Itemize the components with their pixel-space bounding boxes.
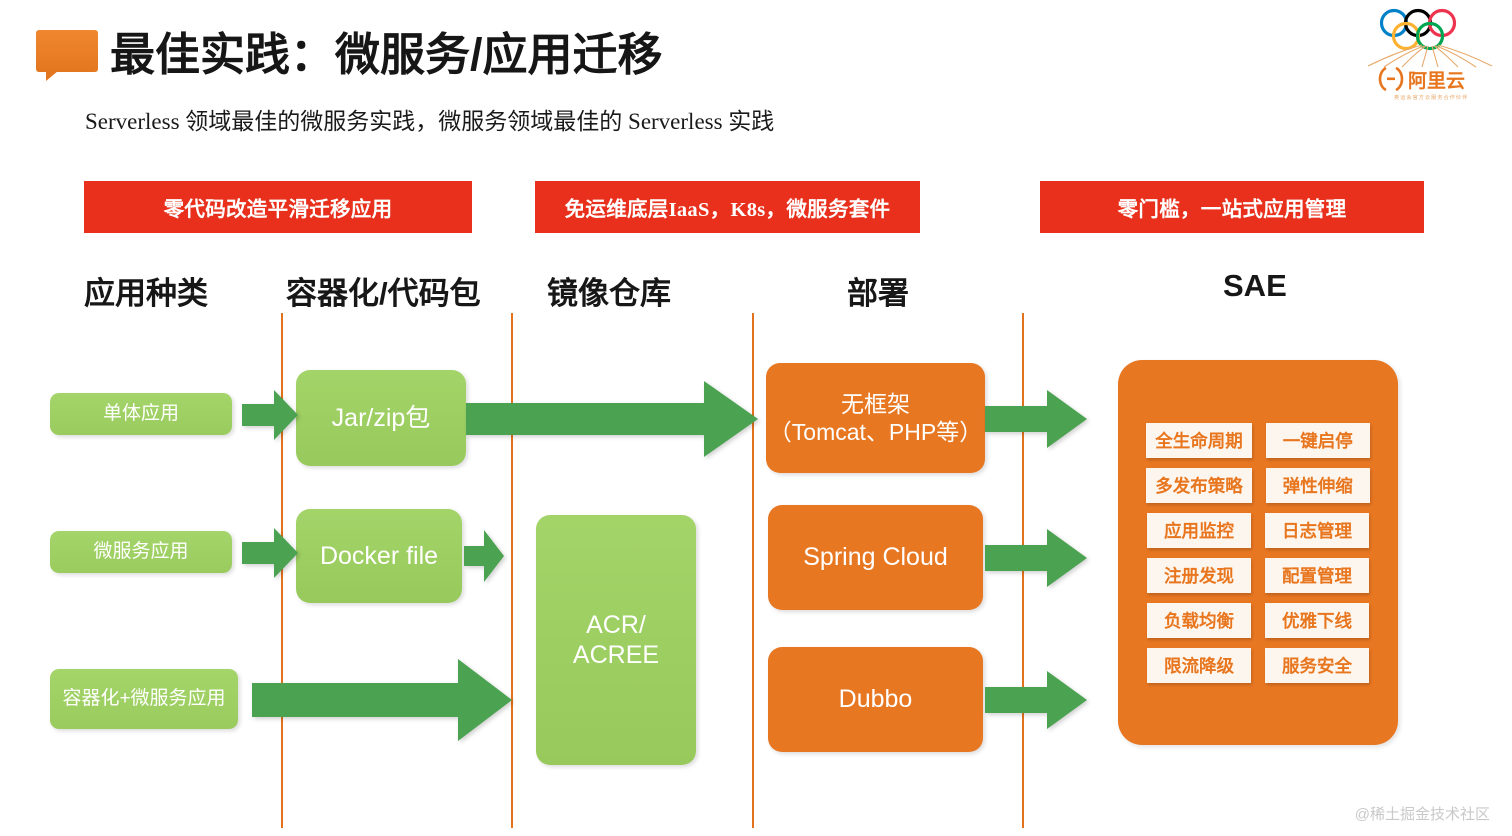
app-type-microservice: 微服务应用 (50, 531, 232, 573)
column-header-deploy: 部署 (847, 268, 909, 313)
slide-canvas: 最佳实践：微服务/应用迁移 Serverless 领域最佳的微服务实践，微服务领… (0, 0, 1512, 836)
app-type-monolith: 单体应用 (50, 393, 232, 435)
arrow-containerized-to-registry-icon (252, 657, 514, 743)
orange-flag-icon (36, 30, 98, 72)
alibaba-cloud-wordmark-icon: 阿里云 奥运会官方云服务合作伙伴 (1372, 62, 1488, 102)
sae-tag-service-security: 服务安全 (1265, 648, 1369, 683)
sae-row: 多发布策略 弹性伸缩 (1146, 468, 1370, 503)
sae-row: 全生命周期 一键启停 (1146, 423, 1370, 458)
banner-one-stop-management: 零门槛，一站式应用管理 (1040, 181, 1424, 233)
registry-line-1: ACR/ (573, 610, 659, 641)
column-header-sae: SAE (1223, 268, 1287, 304)
page-title: 最佳实践：微服务/应用迁移 (110, 18, 663, 83)
arrow-docker-to-registry-icon (464, 528, 506, 584)
arrow-app-to-jar-icon (242, 388, 300, 442)
sae-row: 限流降级 服务安全 (1147, 648, 1369, 683)
registry-acr-acree: ACR/ ACREE (536, 515, 696, 765)
sae-tag-graceful-shutdown: 优雅下线 (1265, 603, 1369, 638)
column-header-containerization: 容器化/代码包 (286, 268, 481, 313)
sae-tag-load-balancing: 负载均衡 (1147, 603, 1251, 638)
arrow-springcloud-to-sae-icon (985, 527, 1089, 589)
sae-row: 负载均衡 优雅下线 (1147, 603, 1369, 638)
deploy-no-framework-line-2: （Tomcat、PHP等） (769, 418, 982, 446)
deploy-no-framework-line-1: 无框架 (769, 390, 982, 418)
watermark: @稀土掘金技术社区 (1355, 803, 1490, 824)
alibaba-cloud-olympic-logo: 阿里云 奥运会官方云服务合作伙伴 (1364, 4, 1496, 104)
svg-text:阿里云: 阿里云 (1408, 70, 1465, 92)
sae-tag-lifecycle: 全生命周期 (1146, 423, 1252, 458)
column-header-app-types: 应用种类 (84, 268, 208, 313)
sae-tag-service-discovery: 注册发现 (1147, 558, 1251, 593)
sae-tag-rate-limiting: 限流降级 (1147, 648, 1251, 683)
sae-tag-one-click-start-stop: 一键启停 (1266, 423, 1370, 458)
sae-row: 注册发现 配置管理 (1147, 558, 1369, 593)
banner-zero-code-migration: 零代码改造平滑迁移应用 (84, 181, 472, 233)
deploy-dubbo: Dubbo (768, 647, 983, 752)
sae-tag-app-monitoring: 应用监控 (1147, 513, 1251, 548)
app-type-containerized-microservice: 容器化+微服务应用 (50, 669, 238, 729)
sae-tag-release-strategy: 多发布策略 (1146, 468, 1252, 503)
sae-tag-log-management: 日志管理 (1265, 513, 1369, 548)
package-dockerfile: Docker file (296, 509, 462, 603)
page-subtitle: Serverless 领域最佳的微服务实践，微服务领域最佳的 Serverles… (85, 102, 774, 136)
arrow-noframework-to-sae-icon (985, 388, 1089, 450)
svg-text:奥运会官方云服务合作伙伴: 奥运会官方云服务合作伙伴 (1394, 93, 1468, 101)
deploy-no-framework: 无框架 （Tomcat、PHP等） (766, 363, 985, 473)
sae-tag-config-management: 配置管理 (1265, 558, 1369, 593)
column-header-image-registry: 镜像仓库 (547, 268, 671, 313)
arrow-jar-to-deploy-icon (466, 379, 760, 459)
deploy-spring-cloud: Spring Cloud (768, 505, 983, 610)
sae-capability-panel: 全生命周期 一键启停 多发布策略 弹性伸缩 应用监控 日志管理 注册发现 配置管… (1118, 360, 1398, 745)
sae-tag-elastic-scaling: 弹性伸缩 (1266, 468, 1370, 503)
registry-line-2: ACREE (573, 640, 659, 671)
package-jar-zip: Jar/zip包 (296, 370, 466, 466)
sae-row: 应用监控 日志管理 (1147, 513, 1369, 548)
arrow-app-to-docker-icon (242, 526, 300, 580)
arrow-dubbo-to-sae-icon (985, 669, 1089, 731)
banner-serverless-infra: 免运维底层IaaS，K8s，微服务套件 (535, 181, 920, 233)
